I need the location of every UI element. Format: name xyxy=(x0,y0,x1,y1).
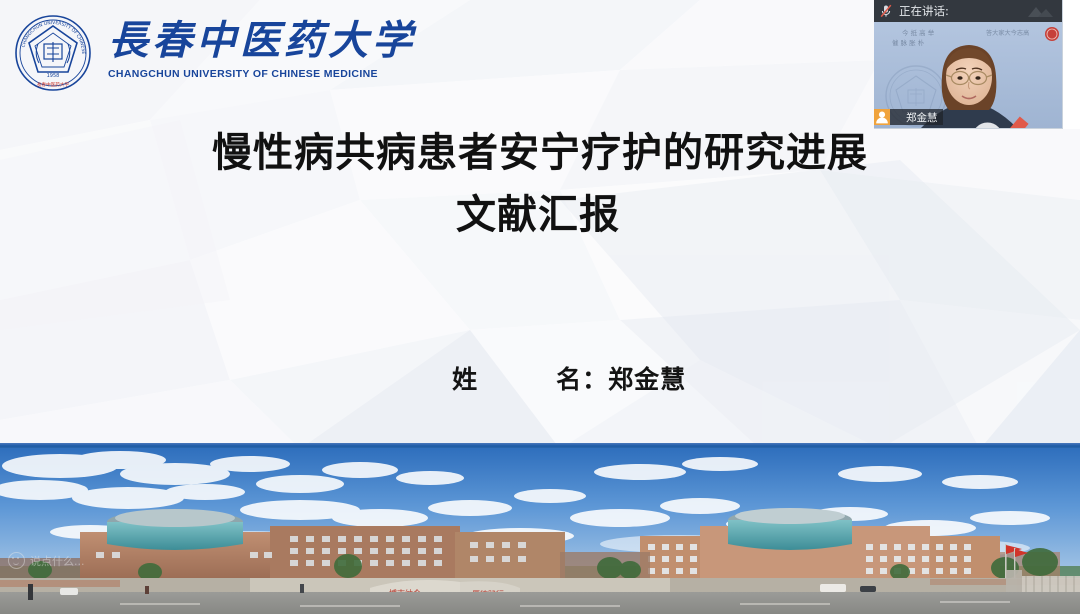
panel-right-margin xyxy=(1063,0,1080,129)
university-name-en: CHANGCHUN UNIVERSITY OF CHINESE MEDICINE xyxy=(108,68,398,80)
slide-title-line1: 慢性病共病患者安宁疗护的研究进展 xyxy=(0,122,1080,184)
svg-text:催 脉 胀 朴: 催 脉 胀 朴 xyxy=(892,38,925,47)
wall-calligraphy-left: 今 抵 高 举 xyxy=(902,28,935,37)
video-feed[interactable]: 今 抵 高 举 催 脉 胀 朴 答大家大今志高 xyxy=(874,22,1062,129)
university-seal-icon: 1958 長春中医药大学 CHANGCHUN UNIVERSITY OF CHI… xyxy=(14,14,92,92)
info-label-name: 姓 名： xyxy=(452,360,608,400)
svg-text:長春中医药大学: 長春中医药大学 xyxy=(37,81,70,88)
video-call-panel[interactable]: 正在讲话: xyxy=(874,0,1063,129)
speaking-status-label: 正在讲话: xyxy=(899,3,949,19)
mic-muted-icon xyxy=(893,111,903,123)
presentation-screen: 1958 長春中医药大学 CHANGCHUN UNIVERSITY OF CHI… xyxy=(0,0,1080,614)
slide-title-line2: 文献汇报 xyxy=(0,184,1080,246)
info-row: 姓 名：郑金慧 xyxy=(0,320,1080,440)
comment-watermark: 说点什么... xyxy=(8,552,85,569)
wall-calligraphy-right: 答大家大今志高 xyxy=(986,29,1029,37)
campus-panorama-image: 博古纳今 厚德践行 xyxy=(0,448,1080,614)
participant-name-badge: 郑金慧 xyxy=(874,109,943,125)
info-value-name: 郑金慧 xyxy=(608,360,686,400)
slide-title-area: 慢性病共病患者安宁疗护的研究进展 文献汇报 xyxy=(0,122,1080,246)
person-icon xyxy=(874,109,890,125)
mic-muted-icon xyxy=(880,4,892,18)
header-avatar-ghost-icon xyxy=(1024,3,1054,19)
svg-text:1958: 1958 xyxy=(47,73,60,79)
participant-name-pill: 郑金慧 xyxy=(890,109,943,125)
smiley-icon xyxy=(8,552,25,569)
comment-placeholder-text: 说点什么... xyxy=(30,553,85,569)
university-name-cn: 長春中医药大学 xyxy=(108,16,398,66)
university-logo-block: 1958 長春中医药大学 CHANGCHUN UNIVERSITY OF CHI… xyxy=(8,6,408,104)
video-panel-header: 正在讲话: xyxy=(874,0,1062,22)
university-wordmark: 長春中医药大学 CHANGCHUN UNIVERSITY OF CHINESE … xyxy=(108,16,398,94)
